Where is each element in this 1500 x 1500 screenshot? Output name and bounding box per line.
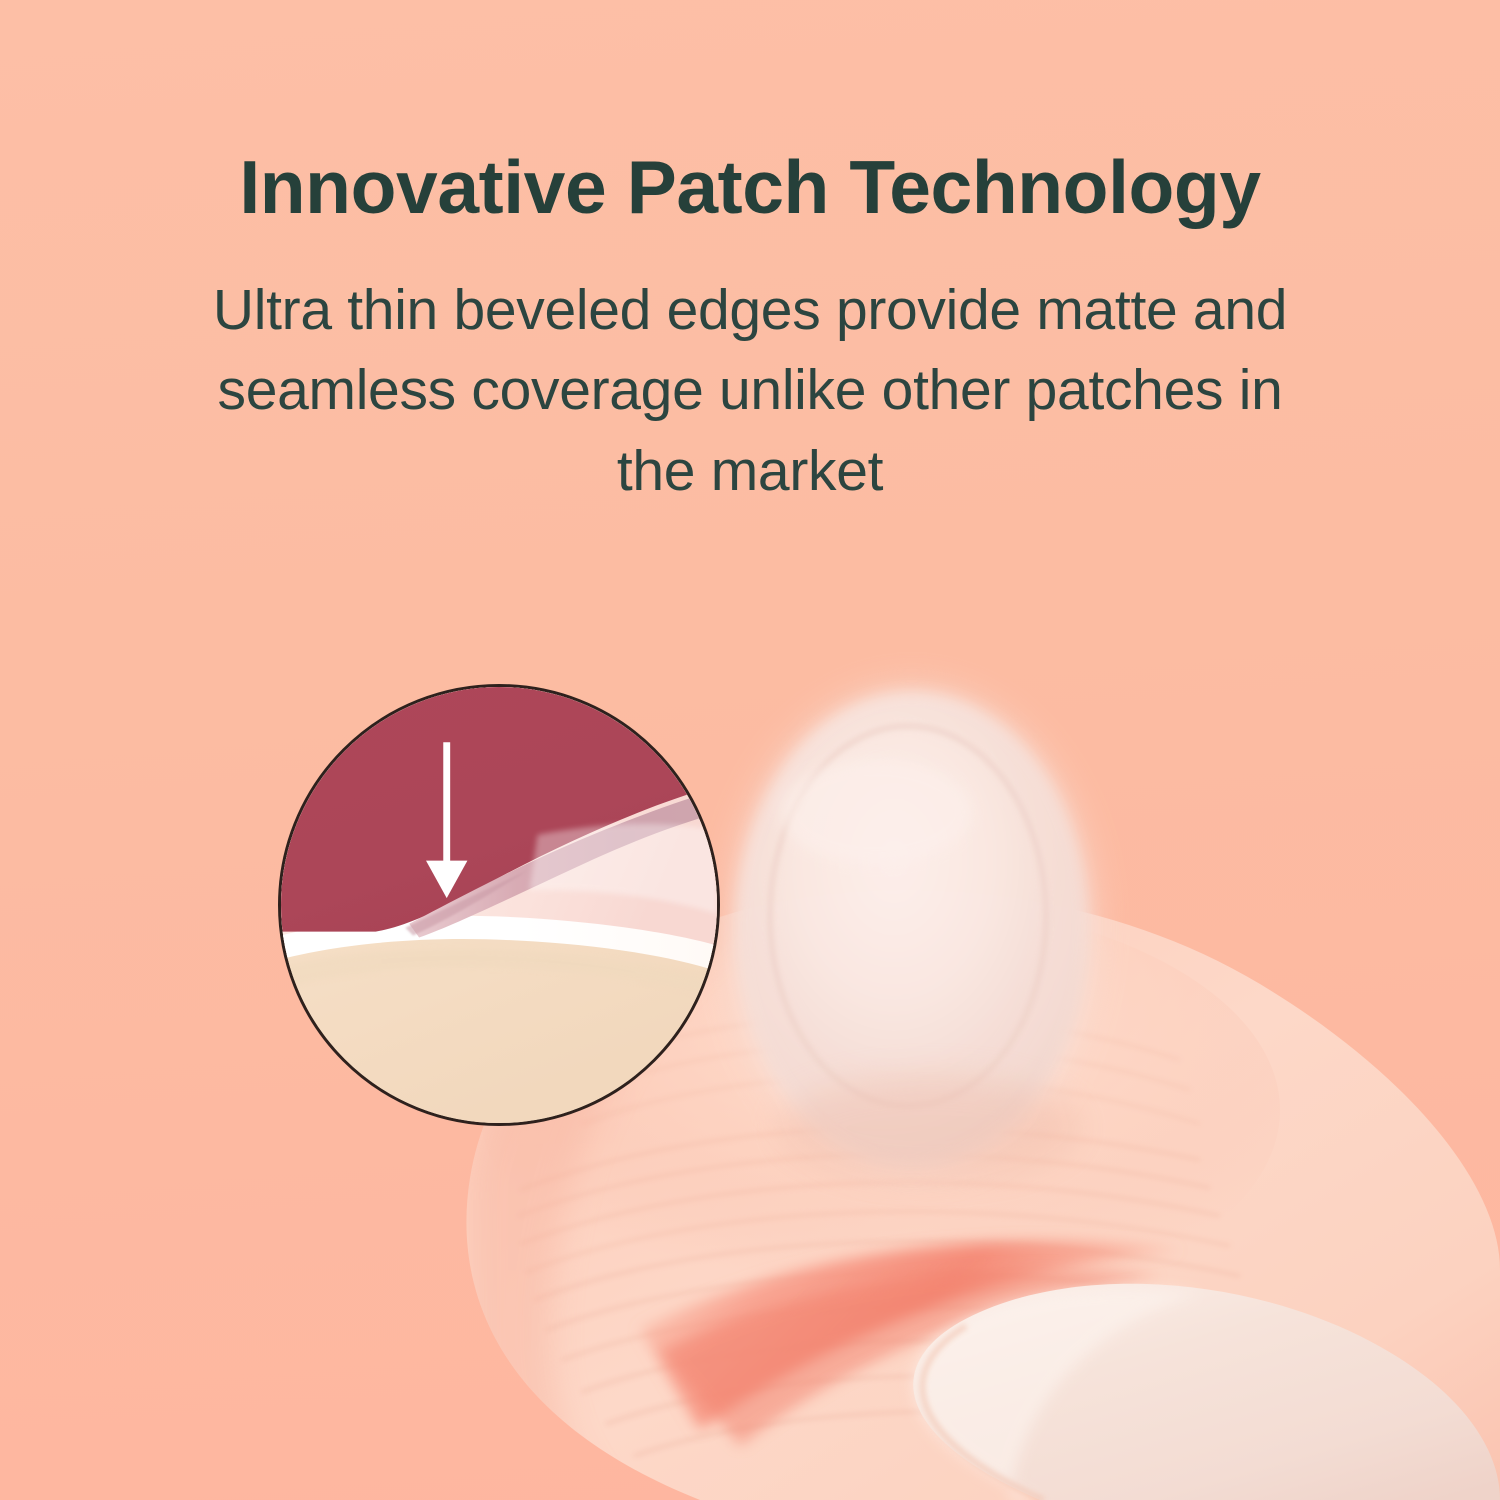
patch-contact-shadow [780, 1076, 1080, 1180]
beveled-edge-diagram [278, 684, 720, 1126]
patch-gloss-highlight [780, 760, 972, 864]
product-feature-graphic: Innovative Patch Technology Ultra thin b… [0, 0, 1500, 1500]
finger-photo-svg [0, 0, 1500, 1500]
finger-with-patch-photo [0, 0, 1500, 1500]
cross-section-svg [281, 687, 717, 1123]
